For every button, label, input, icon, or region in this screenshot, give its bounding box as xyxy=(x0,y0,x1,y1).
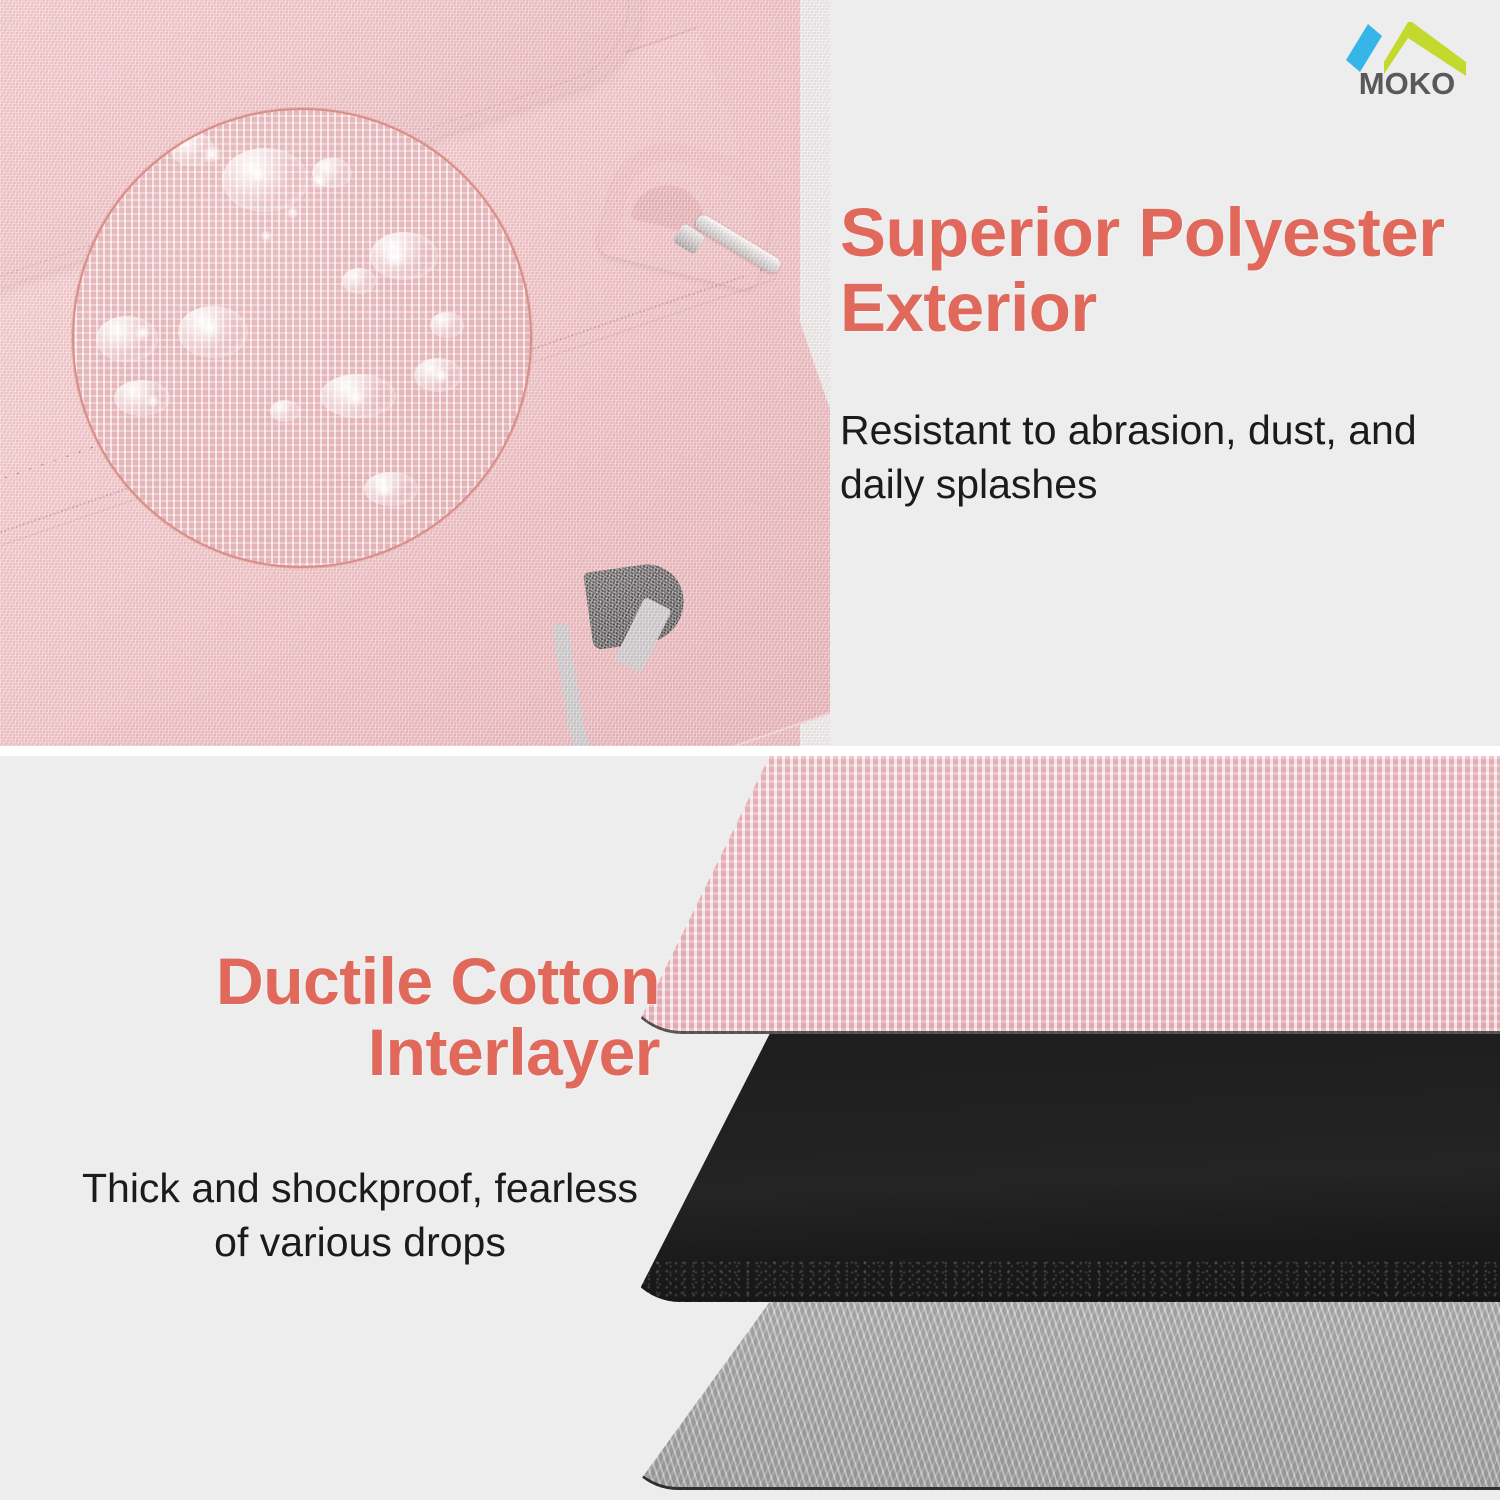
polyester-outer-layer-surface xyxy=(620,756,1500,1034)
cotton-foam-interlayer-edge xyxy=(620,1260,1500,1302)
water-droplet xyxy=(222,148,308,212)
polyester-outer-layer xyxy=(620,756,1500,1034)
water-droplet xyxy=(114,380,170,416)
headline-line-2: Interlayer xyxy=(368,1015,660,1089)
droplet-highlight xyxy=(346,388,365,407)
droplet-highlight xyxy=(260,230,272,242)
droplet-highlight xyxy=(310,172,328,190)
logo-wordmark: MOKO xyxy=(1359,66,1455,98)
bottom-text-block: Ductile Cotton Interlayer Thick and shoc… xyxy=(60,946,660,1269)
product-infographic: Superior Polyester Exterior Resistant to… xyxy=(0,0,1500,1500)
water-droplet xyxy=(96,316,158,362)
droplet-highlight xyxy=(202,144,222,164)
fabric-magnifier-circle xyxy=(72,108,532,568)
fleece-lining-layer-surface xyxy=(620,1302,1500,1490)
cotton-foam-interlayer xyxy=(620,1034,1500,1302)
droplet-highlight xyxy=(250,166,266,182)
droplet-highlight xyxy=(434,368,449,383)
droplet-highlight xyxy=(384,246,406,268)
section-ductile-cotton-interlayer: Ductile Cotton Interlayer Thick and shoc… xyxy=(0,756,1500,1500)
water-droplet xyxy=(430,312,464,338)
section-divider xyxy=(0,746,1500,756)
subtext-ductile-cotton-interlayer: Thick and shockproof, fearless of variou… xyxy=(60,1161,660,1269)
section-superior-polyester-exterior: Superior Polyester Exterior Resistant to… xyxy=(0,0,1500,746)
fleece-lining-layer xyxy=(620,1302,1500,1490)
water-droplet xyxy=(270,400,300,422)
headline-line-1: Ductile Cotton xyxy=(216,944,660,1018)
page-title-ductile-cotton-interlayer: Ductile Cotton Interlayer xyxy=(60,946,660,1089)
water-droplet xyxy=(342,268,376,294)
droplet-highlight xyxy=(376,482,392,498)
page-title-superior-polyester-exterior: Superior Polyester Exterior xyxy=(840,196,1480,345)
moko-logo: MOKO xyxy=(1340,14,1474,98)
droplet-highlight xyxy=(286,206,299,219)
droplet-highlight xyxy=(200,318,220,338)
cotton-foam-interlayer-surface xyxy=(620,1034,1500,1302)
laptop-sleeve-pink-closeup-image xyxy=(0,0,830,746)
top-text-block: Superior Polyester Exterior Resistant to… xyxy=(840,196,1480,511)
droplet-highlight xyxy=(134,324,151,341)
droplet-highlight xyxy=(146,394,160,408)
subtext-superior-polyester-exterior: Resistant to abrasion, dust, and daily s… xyxy=(840,403,1480,511)
material-layer-stack-image xyxy=(660,756,1500,1500)
